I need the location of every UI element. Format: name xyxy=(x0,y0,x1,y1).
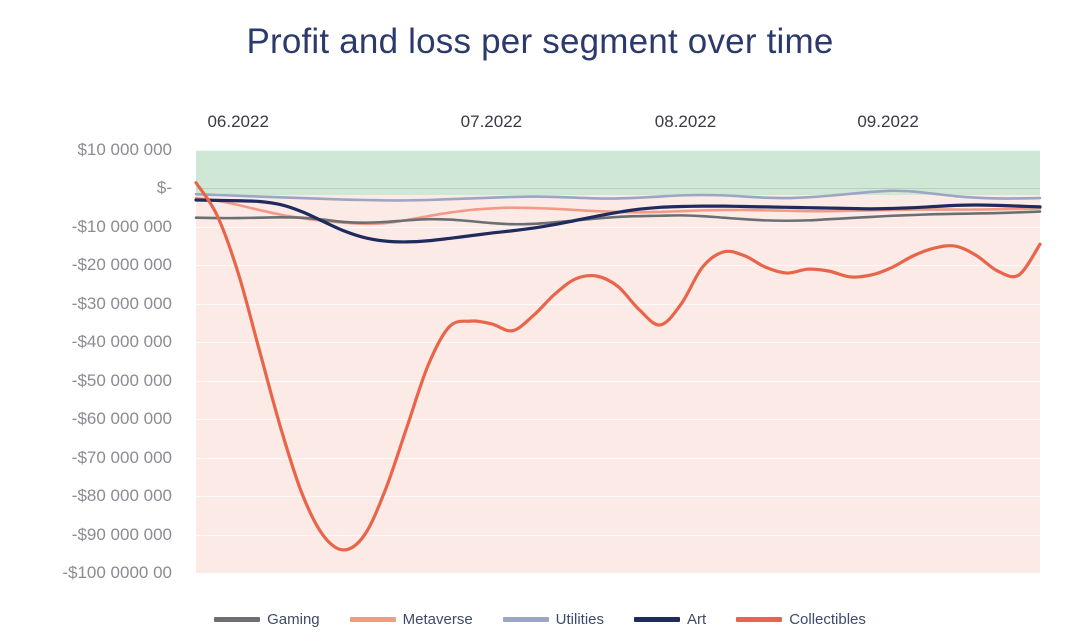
y-axis-tick-label: -$30 000 000 xyxy=(72,294,172,314)
legend-item-label: Gaming xyxy=(267,611,320,628)
chart-legend: GamingMetaverseUtilitiesArtCollectibles xyxy=(0,604,1080,634)
legend-swatch-icon xyxy=(634,617,680,622)
y-axis-tick-label: -$90 000 000 xyxy=(72,525,172,545)
series-line-art xyxy=(196,200,1040,242)
series-line-utilities xyxy=(196,191,1040,201)
legend-item-label: Metaverse xyxy=(403,611,473,628)
gridline xyxy=(196,573,1040,574)
legend-item-label: Utilities xyxy=(556,611,604,628)
legend-swatch-icon xyxy=(503,617,549,622)
y-axis-tick-label: -$20 000 000 xyxy=(72,255,172,275)
y-axis-tick-label: -$10 000 000 xyxy=(72,217,172,237)
legend-item-metaverse[interactable]: Metaverse xyxy=(350,611,473,628)
y-axis-tick-label: $10 000 000 xyxy=(77,140,172,160)
legend-item-label: Collectibles xyxy=(789,611,866,628)
x-axis-tick-label: 08.2022 xyxy=(655,112,716,132)
legend-item-label: Art xyxy=(687,611,706,628)
x-axis-tick-label: 09.2022 xyxy=(857,112,918,132)
legend-item-collectibles[interactable]: Collectibles xyxy=(736,611,866,628)
y-axis-tick-label: -$50 000 000 xyxy=(72,371,172,391)
series-lines xyxy=(196,150,1040,573)
y-axis-tick-label: -$60 000 000 xyxy=(72,409,172,429)
y-axis-tick-label: -$40 000 000 xyxy=(72,332,172,352)
plot-area xyxy=(196,150,1040,573)
legend-swatch-icon xyxy=(736,617,782,622)
y-axis-tick-label: $- xyxy=(157,178,172,198)
legend-swatch-icon xyxy=(214,617,260,622)
legend-item-gaming[interactable]: Gaming xyxy=(214,611,320,628)
legend-swatch-icon xyxy=(350,617,396,622)
x-axis-tick-label: 06.2022 xyxy=(207,112,268,132)
series-line-collectibles xyxy=(196,183,1040,550)
chart-container: Profit and loss per segment over time 06… xyxy=(0,0,1080,644)
legend-item-utilities[interactable]: Utilities xyxy=(503,611,604,628)
x-axis-tick-label: 07.2022 xyxy=(461,112,522,132)
y-axis-tick-labels: $10 000 000$--$10 000 000-$20 000 000-$3… xyxy=(0,0,180,644)
y-axis-tick-label: -$70 000 000 xyxy=(72,448,172,468)
y-axis-tick-label: -$80 000 000 xyxy=(72,486,172,506)
y-axis-tick-label: -$100 0000 00 xyxy=(62,563,172,583)
legend-item-art[interactable]: Art xyxy=(634,611,706,628)
